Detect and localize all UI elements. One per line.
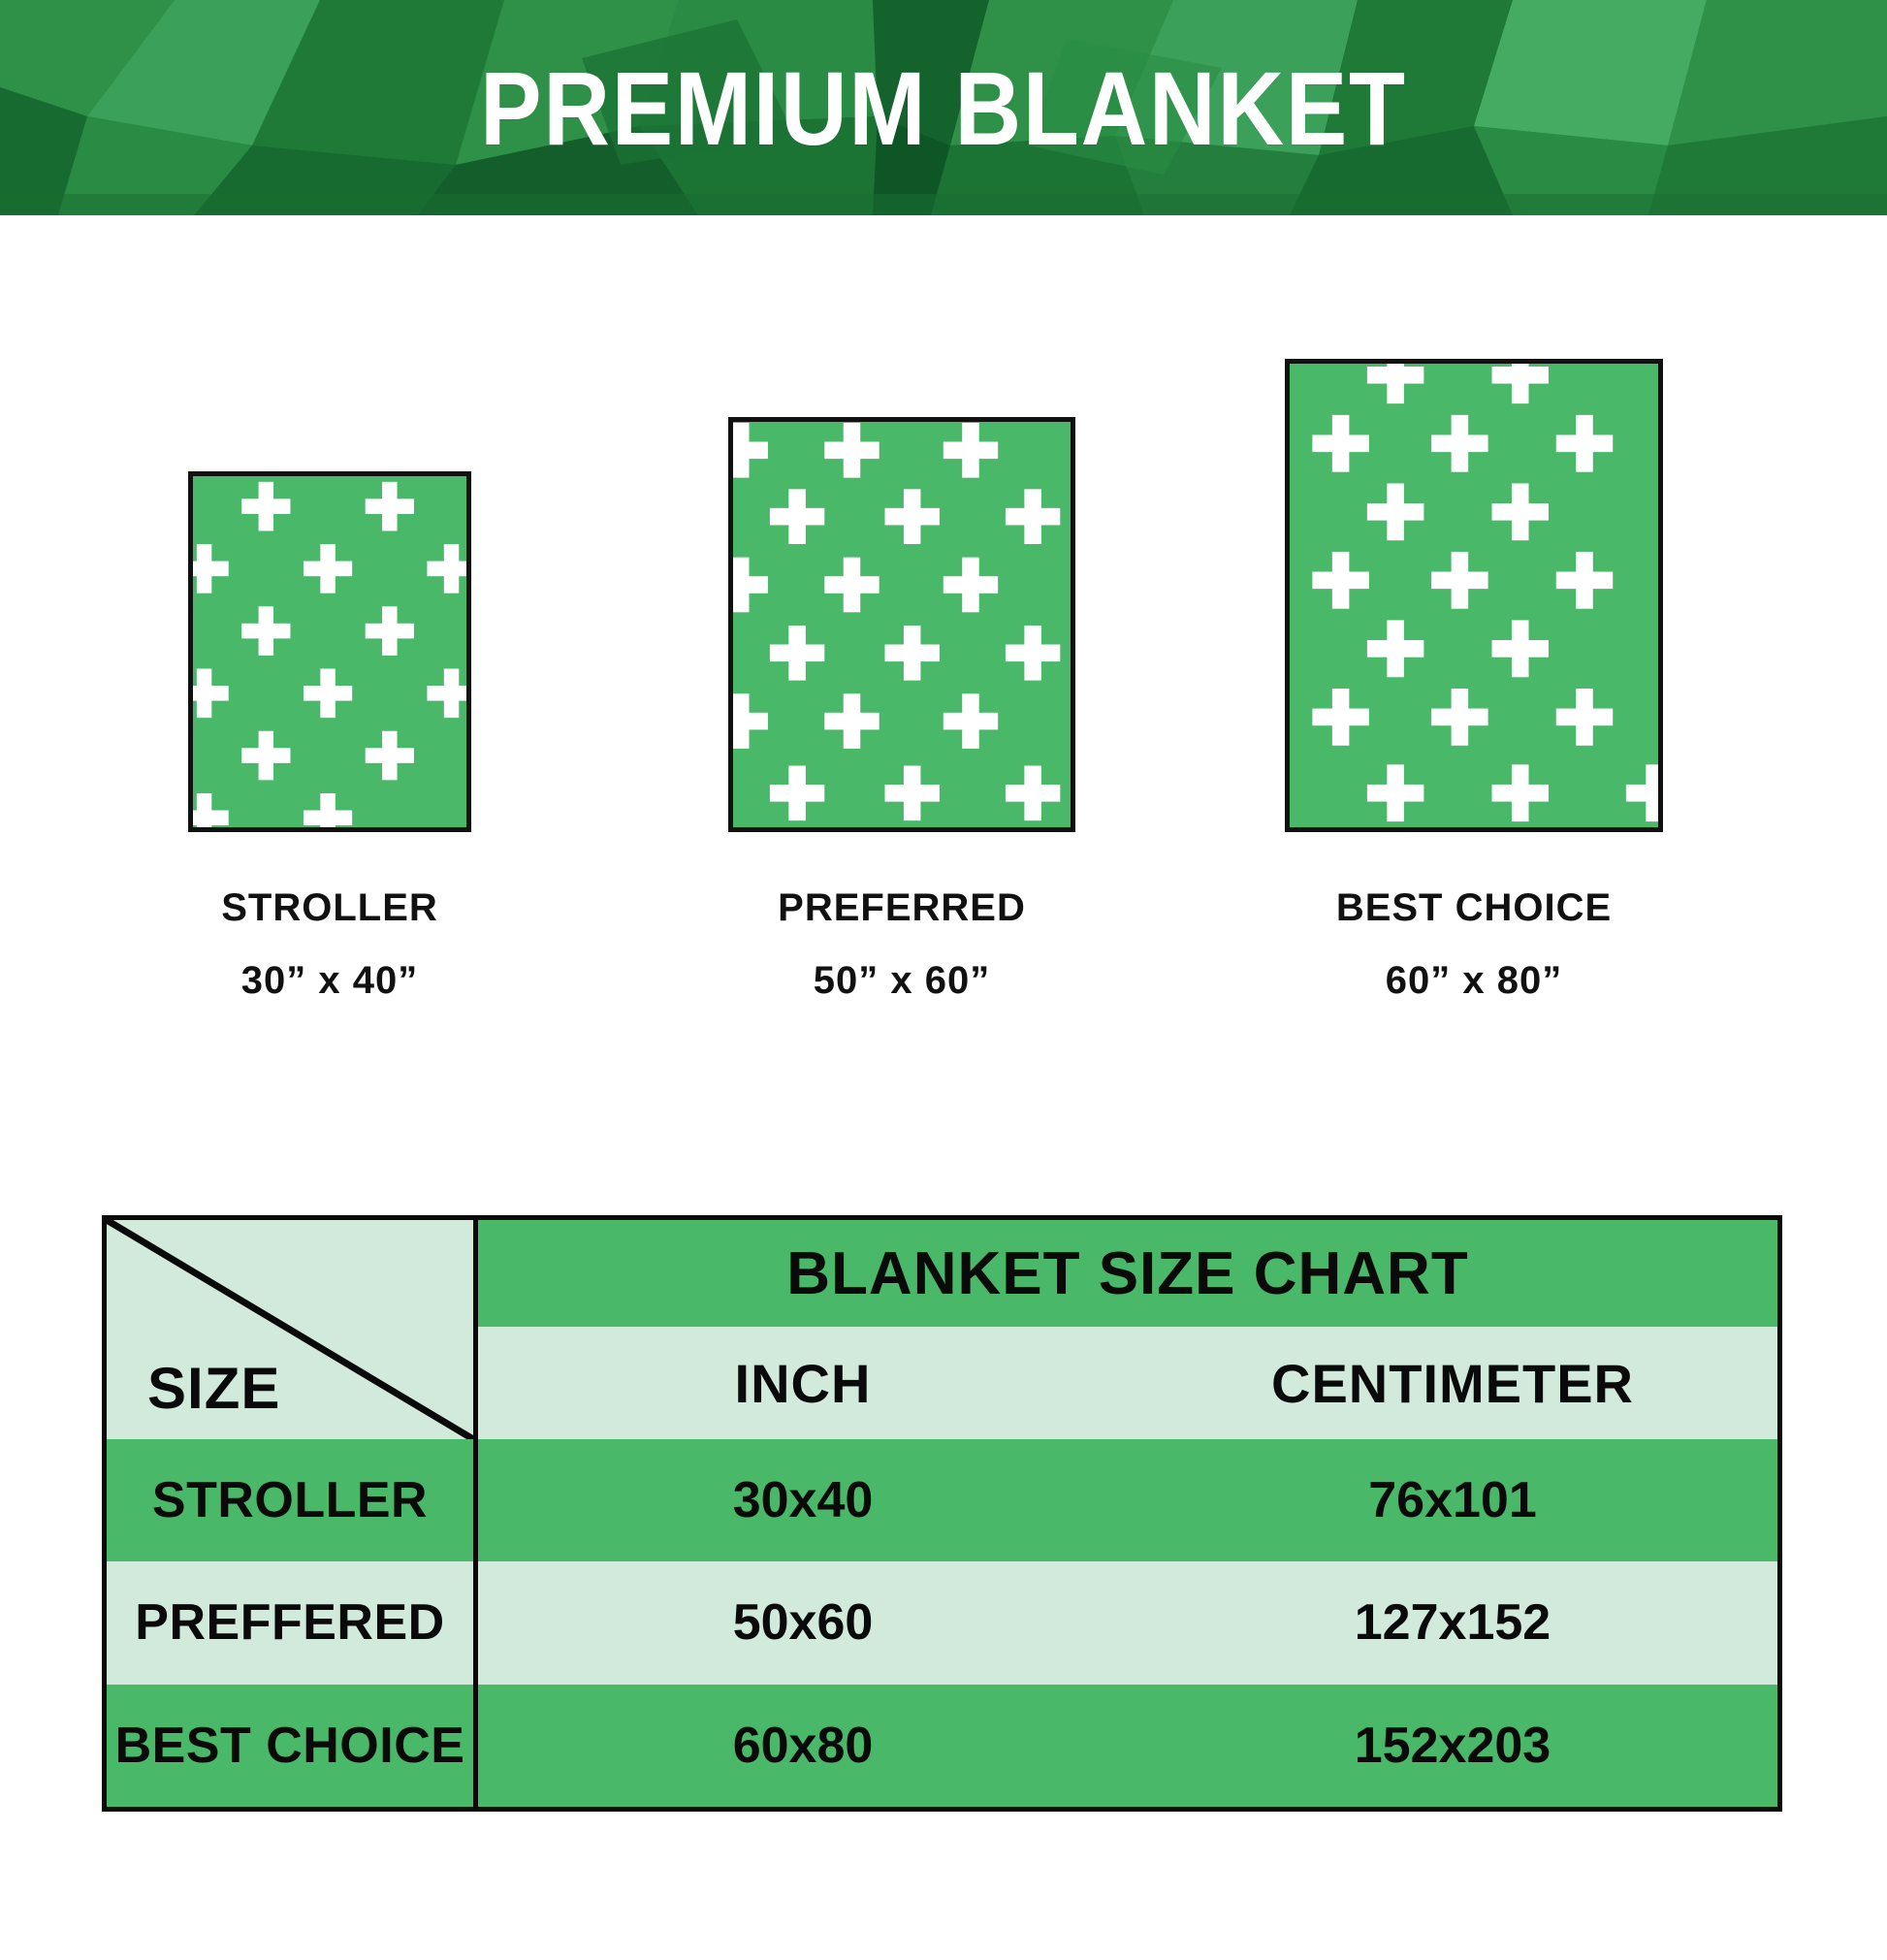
swatch-group-best-choice: BEST CHOICE 60” x 80” <box>1241 409 1707 1003</box>
table-values-column: BLANKET SIZE CHART INCH CENTIMETER 30x40… <box>478 1220 1777 1807</box>
cross-pattern <box>733 422 1071 827</box>
header-banner: PREMIUM BLANKET <box>0 0 1887 215</box>
blanket-swatch-icon-best-choice <box>1285 359 1663 832</box>
cross-pattern <box>193 476 466 827</box>
table-cell-preffered-centimeter: 127x152 <box>1128 1593 1777 1652</box>
table-size-column: SIZE STROLLER PREFFERED BEST CHOICE <box>107 1220 478 1807</box>
table-cell-best-choice-inch: 60x80 <box>478 1717 1128 1775</box>
swatch-name-stroller: STROLLER <box>116 886 543 930</box>
swatch-dimensions-preferred: 50” x 60” <box>679 959 1125 1003</box>
swatch-name-best-choice: BEST CHOICE <box>1241 886 1707 930</box>
table-column-headers: INCH CENTIMETER <box>478 1327 1777 1439</box>
table-row-preffered: 50x60 127x152 <box>478 1561 1777 1684</box>
page-title: PREMIUM BLANKET <box>113 0 1774 215</box>
table-row-label-stroller: STROLLER <box>107 1439 473 1561</box>
cross-pattern <box>1290 364 1658 827</box>
table-column-header-inch: INCH <box>478 1352 1128 1415</box>
swatch-group-preferred: PREFERRED 50” x 60” <box>679 409 1125 1003</box>
blanket-swatch-icon-preferred <box>728 417 1075 832</box>
table-corner-label: SIZE <box>147 1355 280 1422</box>
table-cell-stroller-inch: 30x40 <box>478 1471 1128 1529</box>
table-row-best-choice: 60x80 152x203 <box>478 1685 1777 1807</box>
table-corner-cell: SIZE <box>107 1220 473 1439</box>
table-row-stroller: 30x40 76x101 <box>478 1439 1777 1561</box>
swatch-dimensions-stroller: 30” x 40” <box>116 959 543 1003</box>
table-cell-stroller-centimeter: 76x101 <box>1128 1471 1777 1529</box>
blanket-size-chart-table: SIZE STROLLER PREFFERED BEST CHOICE BLAN… <box>102 1215 1782 1812</box>
blanket-swatch-section: STROLLER 30” x 40” <box>0 215 1887 1137</box>
table-cell-best-choice-centimeter: 152x203 <box>1128 1717 1777 1775</box>
swatch-group-stroller: STROLLER 30” x 40” <box>116 409 543 1003</box>
swatch-dimensions-best-choice: 60” x 80” <box>1241 959 1707 1003</box>
table-row-label-preffered: PREFFERED <box>107 1561 473 1684</box>
blanket-swatch-icon-stroller <box>188 471 471 832</box>
table-cell-preffered-inch: 50x60 <box>478 1593 1128 1652</box>
table-title: BLANKET SIZE CHART <box>478 1220 1777 1327</box>
table-row-label-best-choice: BEST CHOICE <box>107 1685 473 1807</box>
table-column-header-centimeter: CENTIMETER <box>1128 1352 1777 1415</box>
swatch-name-preferred: PREFERRED <box>679 886 1125 930</box>
